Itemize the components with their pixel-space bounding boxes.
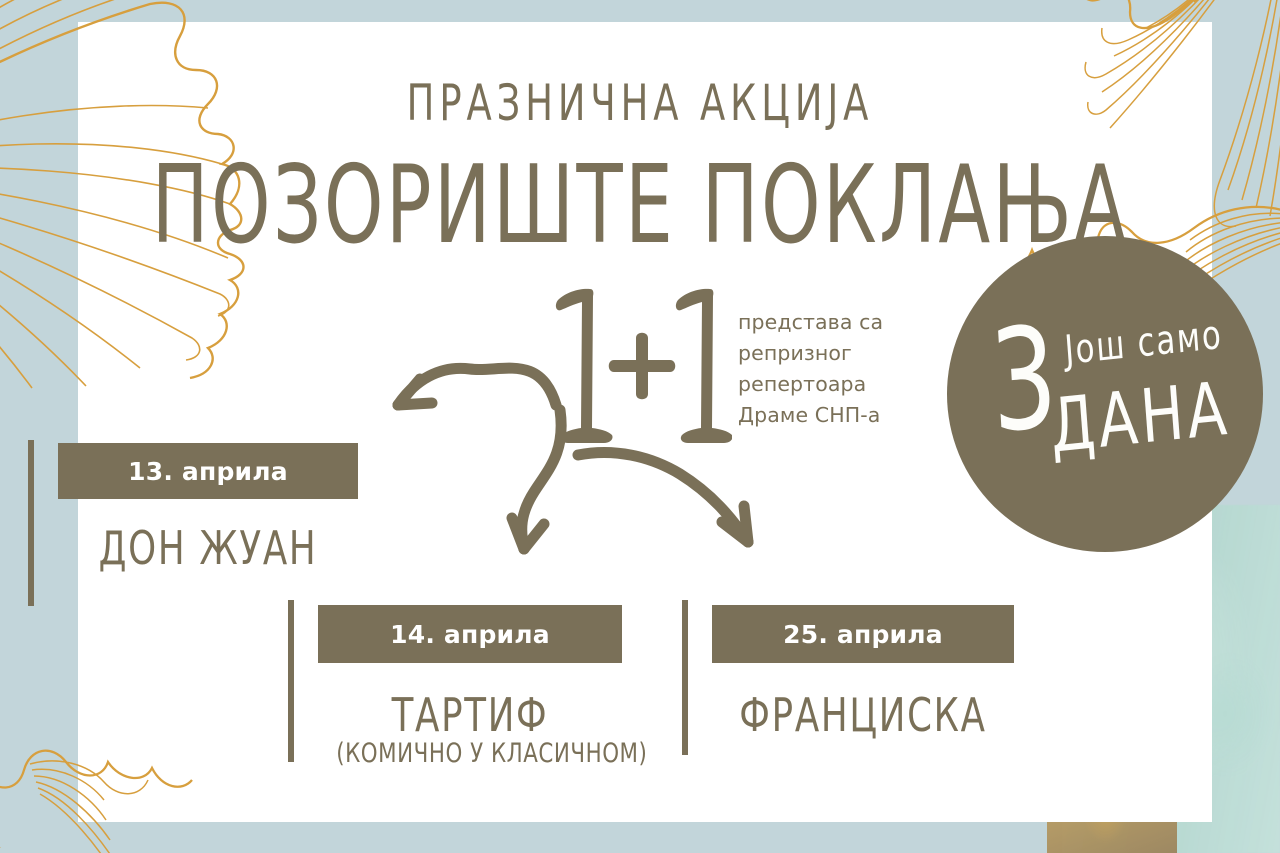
show-title: ФРАНЦИСКА [733,692,993,740]
show-title: ТАРТИФ [339,692,600,740]
badge-line-2: ДАНА [1047,366,1233,470]
show-subtitle: (КОМИЧНО У КЛАСИЧНОМ) [336,738,604,769]
countdown-badge: 3 Још само ДАНА [947,236,1263,552]
offer-note-line: репертоара [738,369,928,400]
offer-note-line: представа са [738,307,928,338]
offer-note: представа са репризног репертоара Драме … [738,307,928,431]
show-title: ДОН ЖУАН [79,525,337,573]
show-tick-mark [682,600,688,755]
show-date-badge: 13. априла [58,443,358,499]
show-date-label: 25. априла [783,620,943,649]
poster-canvas: ПРАЗНИЧНА АКЦИЈА ПОЗОРИШТЕ ПОКЛАЊА предс… [0,0,1280,853]
show-date-label: 14. априла [390,620,550,649]
offer-note-line: Драме СНП-а [738,400,928,431]
show-date-label: 13. априла [128,457,288,486]
badge-line-1: Још само [1063,312,1224,374]
page-title: ПОЗОРИШТЕ ПОКЛАЊА [141,152,1139,260]
show-date-badge: 14. априла [318,605,622,663]
offer-formula [552,286,732,458]
show-tick-mark [288,600,294,762]
badge-number: 3 [987,308,1061,453]
page-kicker: ПРАЗНИЧНА АКЦИЈА [115,78,1165,128]
show-tick-mark [28,440,34,606]
show-date-badge: 25. априла [712,605,1014,663]
offer-note-line: репризног [738,338,928,369]
